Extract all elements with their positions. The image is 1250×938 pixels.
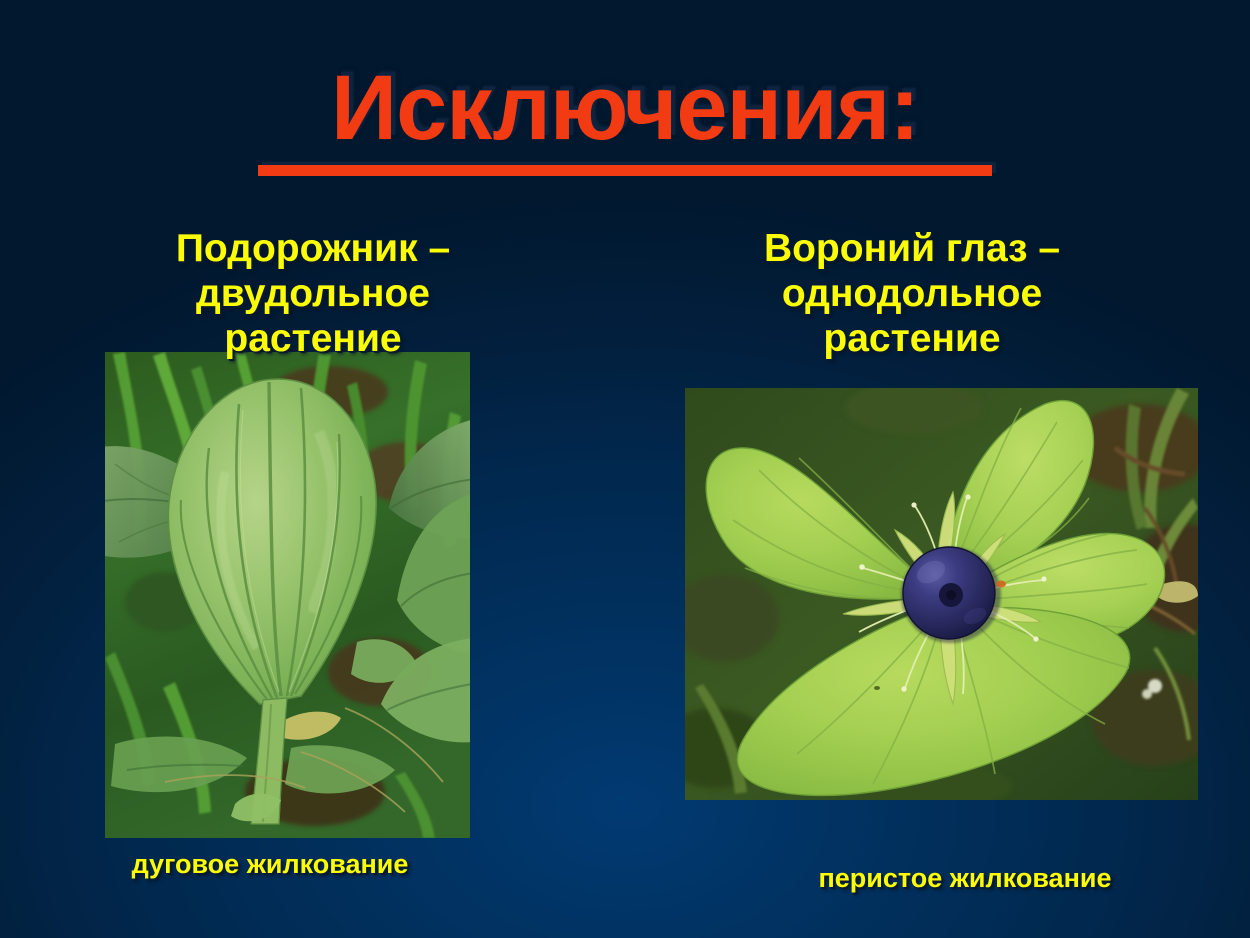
- caption-left-venation: дуговое жилкование: [60, 849, 480, 880]
- plantain-leaf-photo: [105, 352, 470, 838]
- plantain-leaf-illustration: [105, 352, 470, 838]
- page-title: Исключения:: [331, 62, 919, 154]
- column-heading-right: Вороний глаз – однодольное растение: [672, 226, 1152, 362]
- paris-quadrifolia-illustration: [685, 388, 1198, 800]
- column-heading-left: Подорожник – двудольное растение: [78, 226, 548, 362]
- slide-title-block: Исключения:: [0, 62, 1250, 154]
- presentation-slide: Исключения: Подорожник – двудольное раст…: [0, 0, 1250, 938]
- paris-quadrifolia-photo: [685, 388, 1198, 800]
- title-underline: [258, 165, 992, 176]
- caption-right-venation: перистое жилкование: [755, 863, 1175, 894]
